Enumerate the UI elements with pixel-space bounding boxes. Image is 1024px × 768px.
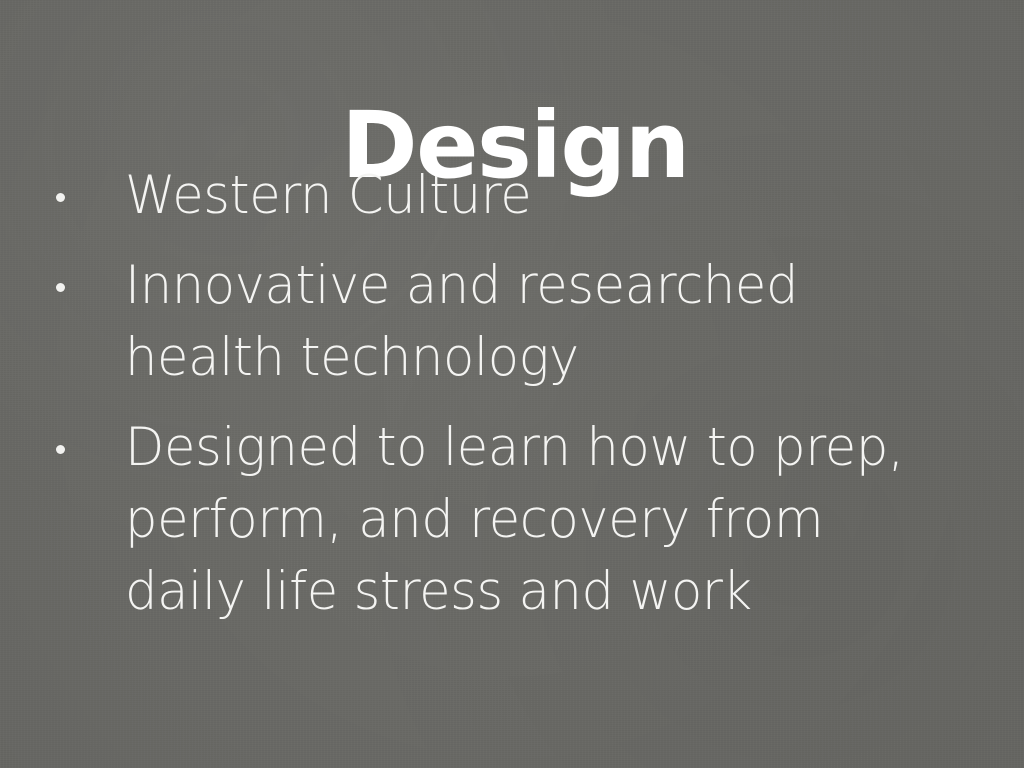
- bullet-text: Innovative and researched health technol…: [125, 250, 948, 394]
- bullet-text: Western Culture: [125, 160, 948, 232]
- slide-content: Design Western Culture Innovative and re…: [0, 0, 1024, 768]
- bullet-dot-icon: [56, 445, 65, 454]
- bullet-list: Western Culture Innovative and researche…: [48, 160, 978, 628]
- presentation-slide: Design Western Culture Innovative and re…: [0, 0, 1024, 768]
- bullet-item: Western Culture: [48, 160, 978, 232]
- bullet-dot-icon: [56, 283, 65, 292]
- bullet-item: Innovative and researched health technol…: [48, 250, 978, 394]
- bullet-item: Designed to learn how to prep, perform, …: [48, 412, 978, 628]
- bullet-text: Designed to learn how to prep, perform, …: [125, 412, 948, 628]
- bullet-dot-icon: [56, 193, 65, 202]
